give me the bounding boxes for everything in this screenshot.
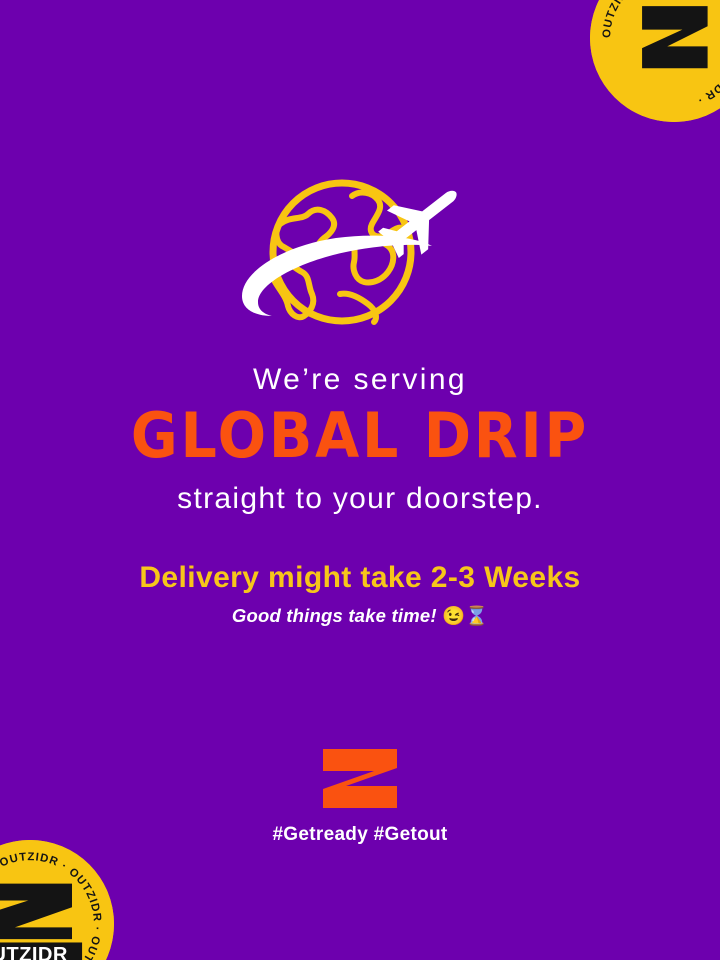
- line-delivery-estimate: Delivery might take 2-3 Weeks: [0, 561, 720, 594]
- headline-global-drip: GLOBAL DRIP: [29, 405, 691, 467]
- copy-block: We’re serving GLOBAL DRIP straight to yo…: [0, 364, 720, 627]
- line-subnote: Good things take time! 😉⌛: [0, 606, 720, 626]
- outzidr-z-logo: [320, 749, 400, 808]
- stamp-badge-bottom-left: OUTZIDR · OUTZIDR · OUTZIDR · OUTZIDR · …: [0, 840, 114, 960]
- line-doorstep: straight to your doorstep.: [0, 482, 720, 515]
- footer-brand: #Getready #Getout: [0, 749, 720, 846]
- subnote-text: Good things take time!: [232, 605, 437, 626]
- airplane-icon: [371, 170, 473, 267]
- stamp-badge-top-right: OUTZIDR · OUTZIDR · OUTZIDR · OUTZIDR ·: [590, 0, 720, 122]
- hashtags: #Getready #Getout: [0, 824, 720, 846]
- stamp-wordmark: OUTZIDR: [0, 944, 68, 960]
- subnote-emoji: 😉⌛: [442, 605, 488, 626]
- poster-canvas: OUTZIDR · OUTZIDR · OUTZIDR · OUTZIDR · …: [0, 0, 720, 960]
- line-serving: We’re serving: [0, 364, 720, 396]
- hero-illustration: [232, 176, 488, 342]
